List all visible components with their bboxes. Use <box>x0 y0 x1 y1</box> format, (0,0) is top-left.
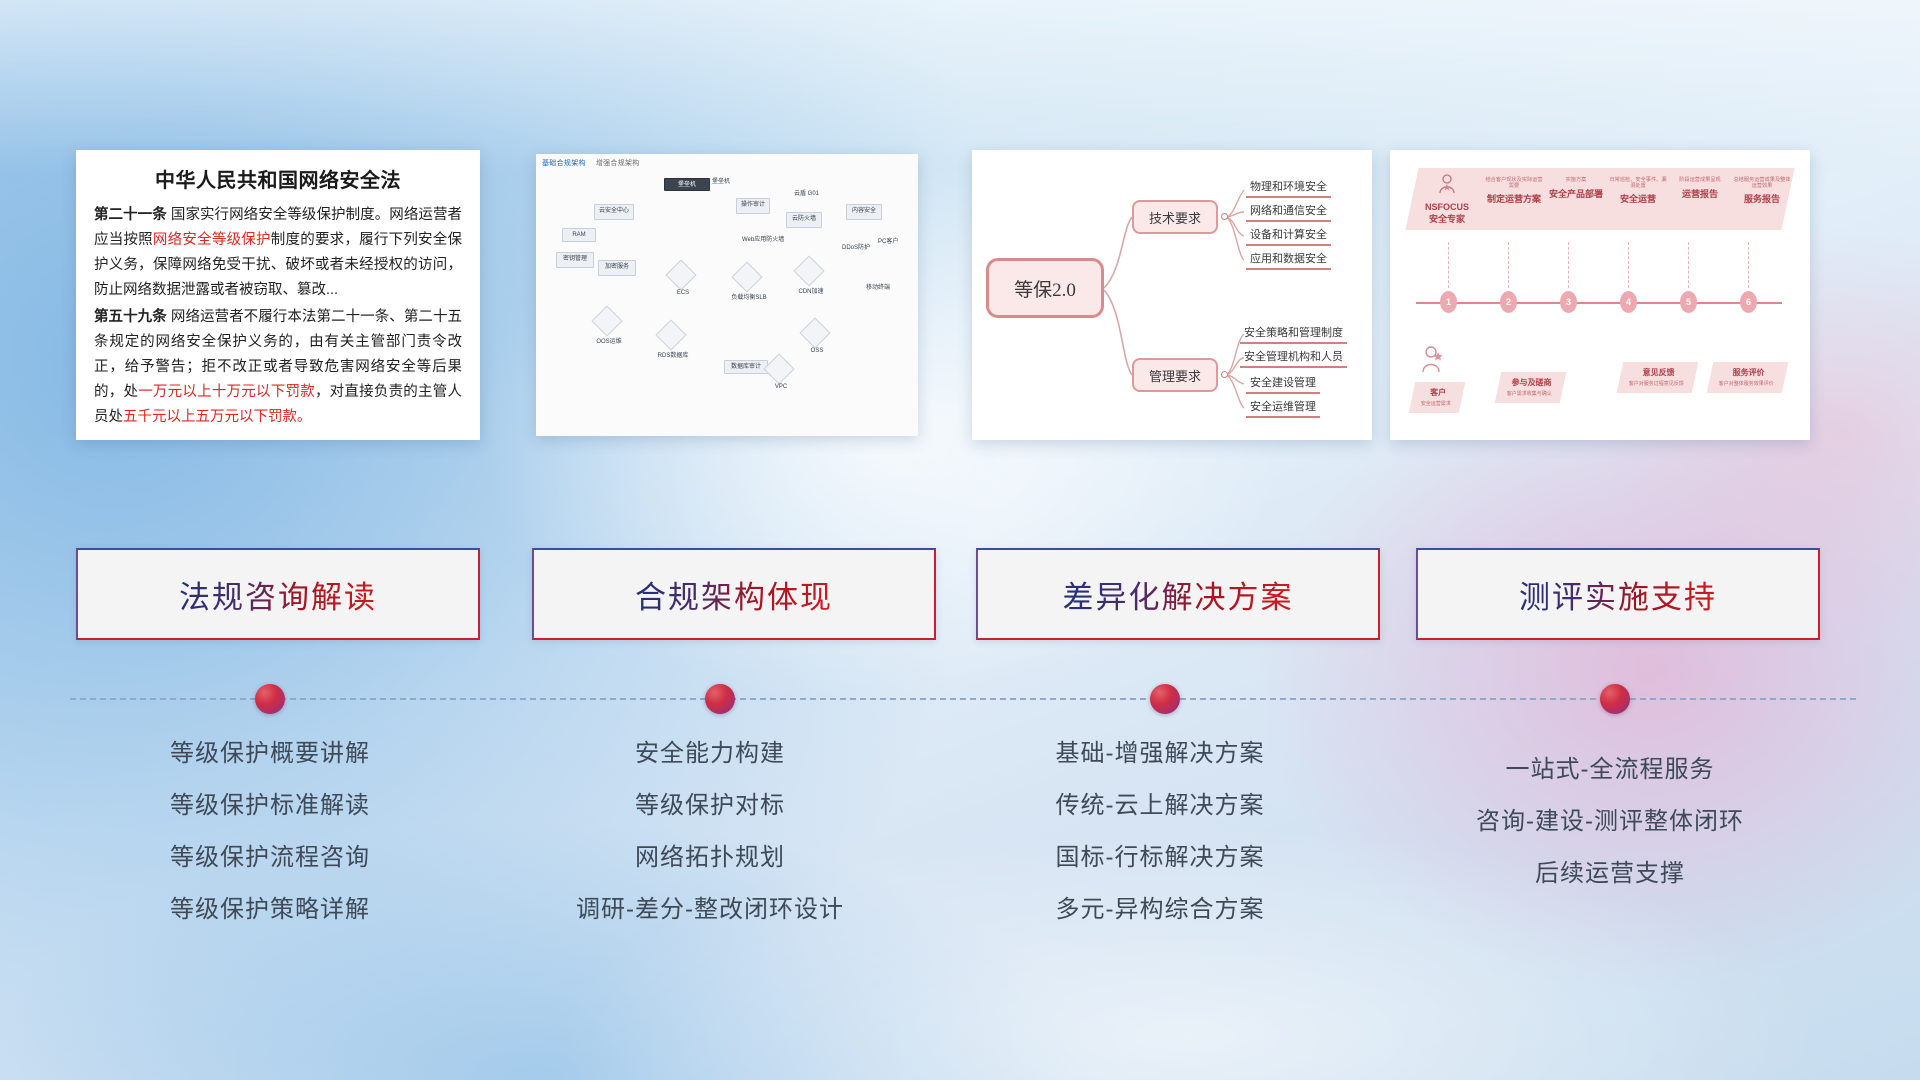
roadmap-step-title: 运营报告 <box>1670 187 1730 200</box>
list-item: 调研-差分-整改闭环设计 <box>500 898 920 922</box>
architecture-hex-label: ECS <box>662 290 704 296</box>
section-label-row: 法规咨询解读 合规架构体现 差异化解决方案 测评实施支持 <box>0 548 1920 640</box>
mindmap-branch-tech: 技术要求 <box>1132 200 1218 234</box>
architecture-floating-label: PC客户 <box>878 236 898 245</box>
roadmap-tick <box>1508 242 1509 288</box>
mindmap-leaf: 安全策略和管理制度 <box>1240 324 1347 344</box>
mindmap-leaf: 设备和计算安全 <box>1246 226 1331 246</box>
architecture-hex-shape <box>731 261 762 292</box>
architecture-hex-shape <box>665 259 696 290</box>
architecture-diagram: 基础合规架构增强合规架构 堡垒机云安全中心操作审计云防火墙内容安全RAM密钥管理… <box>536 154 918 436</box>
roadmap-step-subtitle: 日常巡检、安全事件、漏洞处置 <box>1608 178 1668 189</box>
architecture-hex-shape <box>655 319 686 350</box>
detail-column-2: 安全能力构建 等级保护对标 网络拓扑规划 调研-差分-整改闭环设计 <box>500 742 920 950</box>
architecture-tab[interactable]: 基础合规架构 <box>542 160 586 167</box>
architecture-hex-shape <box>793 255 824 286</box>
section-label-text: 法规咨询解读 <box>179 572 377 617</box>
timeline-dot-4[interactable] <box>1600 684 1630 714</box>
architecture-node: RAM <box>562 228 596 242</box>
roadmap-step-subtitle: 阶段运营成果呈现 <box>1670 178 1730 184</box>
roadmap-expert-cell: NSFOCUS安全专家 <box>1416 174 1478 225</box>
roadmap-step-node[interactable]: 1 <box>1440 291 1457 313</box>
section-label-box-3[interactable]: 差异化解决方案 <box>976 548 1380 640</box>
architecture-node: 加密服务 <box>598 260 636 276</box>
timeline <box>0 680 1920 720</box>
roadmap-tag-evaluation: 服务评价 客户对整体服务效果评价 <box>1707 362 1789 393</box>
roadmap-step-cell: 阶段运营成果呈现运营报告 <box>1670 178 1730 200</box>
detail-column-4: 一站式-全流程服务 咨询-建设-测评整体闭环 后续运营支撑 <box>1400 758 1820 914</box>
architecture-hex-label: OSS <box>796 348 838 354</box>
roadmap-tick <box>1448 242 1449 288</box>
architecture-floating-label: DDoS防护 <box>842 242 870 251</box>
architecture-floating-label: Web应用防火墙 <box>742 234 784 243</box>
roadmap-tick <box>1748 242 1749 288</box>
section-label-box-4[interactable]: 测评实施支持 <box>1416 548 1820 640</box>
roadmap-tick <box>1688 242 1689 288</box>
section-label-text: 测评实施支持 <box>1519 572 1717 617</box>
roadmap-tick <box>1628 242 1629 288</box>
timeline-dot-1[interactable] <box>255 684 285 714</box>
mindmap-leaf: 物理和环境安全 <box>1246 178 1331 198</box>
list-item: 基础-增强解决方案 <box>950 742 1370 766</box>
architecture-tabs: 基础合规架构增强合规架构 <box>542 158 650 168</box>
architecture-node: 密钥管理 <box>556 252 594 268</box>
mindmap-leaf: 安全管理机构和人员 <box>1240 348 1347 368</box>
mindmap-leaf: 安全建设管理 <box>1246 374 1320 394</box>
card-law-text: 中华人民共和国网络安全法 第二十一条 国家实行网络安全等级保护制度。网络运营者应… <box>76 150 480 440</box>
section-label-text: 合规架构体现 <box>635 572 833 617</box>
expert-person-icon <box>1416 174 1478 199</box>
list-item: 等级保护标准解读 <box>60 794 480 818</box>
law-highlight-text: 一万元以上十万元以下罚款 <box>138 384 315 400</box>
roadmap-step-cell: 总结服务运营成果及整体运营效果服务报告 <box>1732 178 1792 205</box>
roadmap-step-node[interactable]: 6 <box>1740 291 1757 313</box>
list-item: 多元-异构综合方案 <box>950 898 1370 922</box>
architecture-hex-shape <box>799 317 830 348</box>
architecture-hex-label: 负载均衡SLB <box>728 292 770 301</box>
law-document: 中华人民共和国网络安全法 第二十一条 国家实行网络安全等级保护制度。网络运营者应… <box>76 150 480 439</box>
architecture-floating-label: 移动终端 <box>866 282 890 291</box>
list-item: 传统-云上解决方案 <box>950 794 1370 818</box>
architecture-floating-label: 堡垒机 <box>712 176 730 185</box>
law-highlight-text: 网络安全等级保护 <box>153 232 271 248</box>
customer-person-icon <box>1420 346 1446 376</box>
roadmap-step-title: 制定运营方案 <box>1484 192 1544 205</box>
list-item: 国标-行标解决方案 <box>950 846 1370 870</box>
list-item: 等级保护流程咨询 <box>60 846 480 870</box>
timeline-dot-3[interactable] <box>1150 684 1180 714</box>
roadmap-step-node[interactable]: 3 <box>1560 291 1577 313</box>
law-article-number: 第二十一条 <box>94 207 167 223</box>
roadmap-tag-customer: 客户 安全运营需求 <box>1409 382 1466 413</box>
mindmap-branch-mgmt: 管理要求 <box>1132 358 1218 392</box>
mindmap-leaf: 安全运维管理 <box>1246 398 1320 418</box>
law-paragraph-1: 第二十一条 国家实行网络安全等级保护制度。网络运营者应当按照网络安全等级保护制度… <box>94 203 462 303</box>
list-item: 后续运营支撑 <box>1400 862 1820 886</box>
roadmap-tag-feedback: 意见反馈 客户对服务过程意见反馈 <box>1617 362 1699 393</box>
law-title: 中华人民共和国网络安全法 <box>94 164 462 193</box>
architecture-node: 数据库审计 <box>724 360 768 374</box>
list-item: 一站式-全流程服务 <box>1400 758 1820 782</box>
card-mind-map: 等保2.0 技术要求 管理要求 物理 <box>972 150 1372 440</box>
architecture-tab[interactable]: 增强合规架构 <box>596 160 640 167</box>
mindmap-collapse-dot-tech[interactable] <box>1221 213 1228 220</box>
roadmap-step-node[interactable]: 5 <box>1680 291 1697 313</box>
law-highlight-text: 五千元以上五万元以下罚款。 <box>123 409 312 425</box>
list-item: 等级保护概要讲解 <box>60 742 480 766</box>
list-item: 咨询-建设-测评整体闭环 <box>1400 810 1820 834</box>
architecture-hex-label: CDN加速 <box>790 286 832 295</box>
roadmap-step-subtitle: 结合客户现状及实际运营需要 <box>1484 178 1544 189</box>
section-label-box-1[interactable]: 法规咨询解读 <box>76 548 480 640</box>
architecture-node: 内容安全 <box>846 204 882 220</box>
expert-brand-label: NSFOCUS <box>1416 202 1478 212</box>
detail-column-3: 基础-增强解决方案 传统-云上解决方案 国标-行标解决方案 多元-异构综合方案 <box>950 742 1370 950</box>
architecture-hex-label: VPC <box>760 384 802 390</box>
law-article-number: 第五十九条 <box>94 309 167 325</box>
detail-column-1: 等级保护概要讲解 等级保护标准解读 等级保护流程咨询 等级保护策略详解 <box>60 742 480 950</box>
roadmap-step-title: 安全产品部署 <box>1546 187 1606 200</box>
architecture-hex-label: RDS数据库 <box>652 350 694 359</box>
roadmap-step-title: 服务报告 <box>1732 192 1792 205</box>
roadmap-step-subtitle: 总结服务运营成果及整体运营效果 <box>1732 178 1792 189</box>
list-item: 等级保护对标 <box>500 794 920 818</box>
detail-columns: 等级保护概要讲解 等级保护标准解读 等级保护流程咨询 等级保护策略详解 安全能力… <box>0 742 1920 972</box>
roadmap-diagram: NSFOCUS安全专家结合客户现状及实际运营需要制定运营方案实施方案安全产品部署… <box>1390 150 1810 440</box>
roadmap-step-node[interactable]: 2 <box>1500 291 1517 313</box>
architecture-hex-shape <box>763 353 794 384</box>
mindmap-leaf: 应用和数据安全 <box>1246 250 1331 270</box>
section-label-text: 差异化解决方案 <box>1063 572 1294 617</box>
image-card-row: 中华人民共和国网络安全法 第二十一条 国家实行网络安全等级保护制度。网络运营者应… <box>0 150 1920 450</box>
roadmap-axis <box>1416 302 1782 304</box>
architecture-node: 操作审计 <box>736 198 770 214</box>
section-label-box-2[interactable]: 合规架构体现 <box>532 548 936 640</box>
roadmap-banner: NSFOCUS安全专家结合客户现状及实际运营需要制定运营方案实施方案安全产品部署… <box>1405 168 1794 230</box>
roadmap-step-cell: 结合客户现状及实际运营需要制定运营方案 <box>1484 178 1544 205</box>
roadmap-tag-participate: 参与及磋商 客户需求收集与确认 <box>1495 372 1567 403</box>
list-item: 网络拓扑规划 <box>500 846 920 870</box>
timeline-dot-2[interactable] <box>705 684 735 714</box>
expert-role-label: 安全专家 <box>1416 212 1478 225</box>
timeline-dashed-line <box>70 698 1856 700</box>
architecture-hex-label: OOS运维 <box>588 336 630 345</box>
architecture-floating-label: 云盾 G01 <box>794 188 819 197</box>
list-item: 等级保护策略详解 <box>60 898 480 922</box>
card-cloud-architecture: 基础合规架构增强合规架构 堡垒机云安全中心操作审计云防火墙内容安全RAM密钥管理… <box>536 154 918 436</box>
law-paragraph-2: 第五十九条 网络运营者不履行本法第二十一条、第二十五条规定的网络安全保护义务的，… <box>94 305 462 430</box>
card-service-roadmap: NSFOCUS安全专家结合客户现状及实际运营需要制定运营方案实施方案安全产品部署… <box>1390 150 1810 440</box>
roadmap-step-node[interactable]: 4 <box>1620 291 1637 313</box>
list-item: 安全能力构建 <box>500 742 920 766</box>
architecture-hex-shape <box>591 305 622 336</box>
mindmap-leaf: 网络和通信安全 <box>1246 202 1331 222</box>
roadmap-step-cell: 日常巡检、安全事件、漏洞处置安全运营 <box>1608 178 1668 205</box>
roadmap-step-title: 安全运营 <box>1608 192 1668 205</box>
roadmap-tick <box>1568 242 1569 288</box>
roadmap-step-cell: 实施方案安全产品部署 <box>1546 178 1606 200</box>
architecture-node: 堡垒机 <box>664 178 710 191</box>
roadmap-step-subtitle: 实施方案 <box>1546 178 1606 184</box>
architecture-node: 云安全中心 <box>594 204 634 220</box>
architecture-node: 云防火墙 <box>786 212 822 228</box>
mindmap-collapse-dot-mgmt[interactable] <box>1221 371 1228 378</box>
mindmap: 等保2.0 技术要求 管理要求 物理 <box>972 150 1372 440</box>
